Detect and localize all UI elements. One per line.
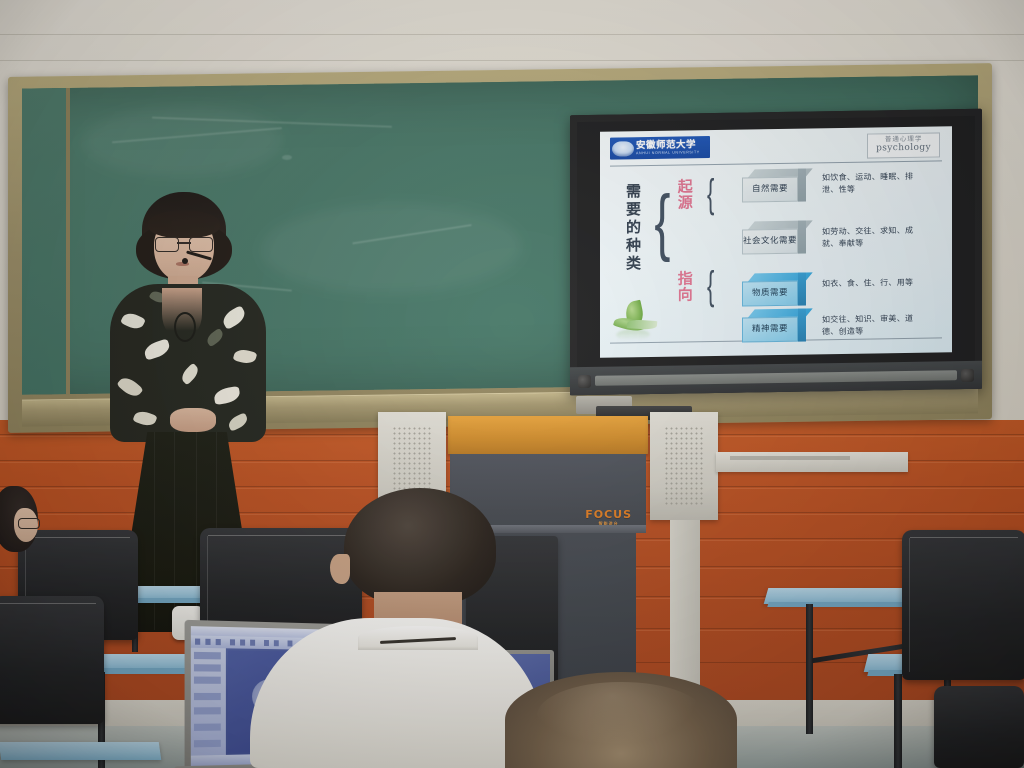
cube-label: 物质需要 [742,281,798,307]
cube-label: 精神需要 [742,317,798,343]
description-material-needs: 如衣、食、住、行、用等 [822,277,918,290]
chair[interactable] [0,596,104,724]
description-social-cultural-needs: 如劳动、交往、求知、成就、奉献等 [822,225,918,250]
cube-natural-needs: 自然需要 [742,169,806,203]
lectern-speaker-right [650,412,718,520]
chalkboard-side-panel [22,88,70,395]
main-brace-icon: { [654,185,670,259]
student-collar [358,626,478,650]
student-hair [344,488,496,606]
slide-vertical-title: 需要的种类 [622,183,644,273]
blouse-tie-icon [174,312,196,342]
classroom-photo: 安徽师范大学 ANHUI NORMAL UNIVERSITY 普通心理学 psy… [0,0,1024,768]
teacher-hands [170,408,216,432]
university-name-en: ANHUI NORMAL UNIVERSITY [636,151,700,156]
wall-rail [716,452,908,472]
whiteboard-pen-tray[interactable] [595,370,958,386]
microphone-capsule-icon [182,258,188,264]
presentation-slide: 安徽师范大学 ANHUI NORMAL UNIVERSITY 普通心理学 psy… [600,126,952,358]
lectern-leg-right [670,520,700,702]
slide-course-badge: 普通心理学 psychology [867,132,940,158]
desk [0,742,161,760]
teacher-fringe [148,210,220,238]
whiteboard-input-button[interactable] [961,369,974,382]
sub-brace-origin-icon: { [707,174,714,214]
university-crest-icon: 安徽师范大学 ANHUI NORMAL UNIVERSITY [610,136,710,160]
student-center [232,488,544,768]
chair[interactable] [902,530,1024,680]
interactive-whiteboard[interactable]: 安徽师范大学 ANHUI NORMAL UNIVERSITY 普通心理学 psy… [570,109,982,395]
eyeglasses-icon [155,237,213,250]
description-natural-needs: 如饮食、运动、睡眠、排泄、性等 [822,171,918,196]
cube-social-cultural-needs: 社会文化需要 [742,221,806,255]
description-spiritual-needs: 如交往、知识、审美、道德、创造等 [822,313,918,338]
lectern-brand-text: FOCUS [585,508,632,521]
slide-rule-top [610,160,942,166]
group-label-origin: 起源 [676,178,692,210]
cube-label: 自然需要 [742,177,798,203]
university-name-cn: 安徽师范大学 [636,140,700,151]
cube-material-needs: 物质需要 [742,273,806,307]
cube-spiritual-needs: 精神需要 [742,309,806,343]
eyeglasses-icon [18,518,40,529]
cube-label: 社会文化需要 [742,229,798,255]
student-foreground [505,672,737,768]
whiteboard-power-button[interactable] [578,375,591,388]
green-leaf-icon [610,301,664,342]
sub-brace-direction-icon: { [707,266,714,306]
student-ear [330,554,350,584]
group-label-direction: 指向 [676,270,692,302]
chair[interactable] [934,686,1024,768]
lectern-worktop [448,416,648,454]
student-left-edge [0,486,46,606]
course-title-en: psychology [876,143,931,154]
